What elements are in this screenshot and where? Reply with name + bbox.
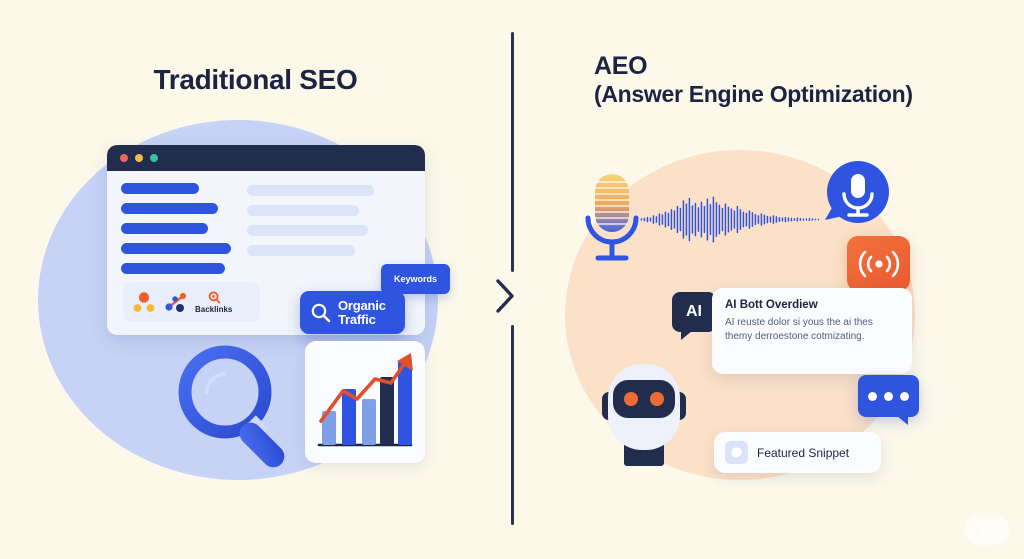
- waveform-bar: [782, 217, 784, 221]
- search-icon: [309, 301, 333, 325]
- typing-dot: [868, 392, 877, 401]
- waveform-bar: [680, 208, 682, 232]
- content-bar: [121, 203, 218, 214]
- waveform-bar: [818, 219, 820, 221]
- magnifying-glass-icon: [167, 338, 307, 473]
- waveform-bar: [650, 217, 652, 221]
- waveform-bar: [770, 216, 772, 222]
- waveform-bar: [767, 216, 769, 223]
- window-maximize-dot[interactable]: [150, 154, 158, 162]
- retro-microphone-icon: [578, 166, 646, 266]
- waveform-bar: [779, 217, 781, 222]
- backlinks-card: Backlinks: [123, 282, 260, 322]
- infographic-canvas: Traditional SEO AEO (Answer Engine Optim…: [0, 0, 1024, 559]
- waveform-bar: [785, 217, 787, 223]
- waveform-bar: [665, 211, 667, 227]
- bar-chart: [305, 341, 425, 463]
- chart-bar: [362, 399, 376, 445]
- content-column-primary: [121, 183, 231, 274]
- waveform-bar: [659, 213, 661, 225]
- right-panel-subtitle: (Answer Engine Optimization): [594, 81, 1014, 108]
- chart-bar: [398, 361, 412, 445]
- molecule-icon: [131, 289, 157, 315]
- waveform-bar: [662, 214, 664, 225]
- content-bar: [121, 243, 231, 254]
- waveform-bar: [731, 208, 733, 230]
- content-column-secondary: [247, 183, 382, 274]
- backlinks-label: Backlinks: [195, 305, 232, 314]
- typing-dot: [884, 392, 893, 401]
- placeholder-bar: [247, 185, 374, 196]
- waveform-bar: [728, 206, 730, 232]
- waveform-bar: [722, 208, 724, 232]
- waveform-bar: [758, 215, 760, 224]
- keywords-tag[interactable]: Keywords: [381, 264, 450, 294]
- ai-overview-card: AI Bott Overdiew AI reuste dolor si yous…: [712, 288, 912, 374]
- waveform-bar: [719, 205, 721, 235]
- waveform-bar: [755, 214, 757, 225]
- waveform-bar: [653, 215, 655, 224]
- waveform-bar: [701, 202, 703, 238]
- window-close-dot[interactable]: [120, 154, 128, 162]
- waveform-bar: [806, 218, 808, 220]
- featured-snippet-card[interactable]: Featured Snippet: [714, 432, 881, 473]
- browser-content: [107, 171, 425, 274]
- waveform-bar: [812, 218, 814, 220]
- snippet-blob-glyph: [730, 446, 743, 459]
- broadcast-signal-icon: [856, 247, 902, 281]
- placeholder-bar: [247, 245, 355, 256]
- waveform-bar: [698, 207, 700, 232]
- waveform-bar: [647, 217, 649, 223]
- waveform-bar: [641, 218, 643, 220]
- typing-dot: [900, 392, 909, 401]
- featured-snippet-label: Featured Snippet: [757, 446, 849, 460]
- waveform-bar: [776, 216, 778, 223]
- waveform-bar: [791, 218, 793, 222]
- waveform-bar: [752, 212, 754, 227]
- link-search-icon: [207, 291, 221, 304]
- waveform-bar: [797, 217, 799, 221]
- waveform-bar: [713, 197, 715, 243]
- waveform-bar: [725, 203, 727, 235]
- ai-overview-heading: AI Bott Overdiew: [725, 299, 899, 311]
- waveform-bar: [800, 218, 802, 221]
- window-minimize-dot[interactable]: [135, 154, 143, 162]
- placeholder-bar: [247, 205, 359, 216]
- waveform-bar: [668, 213, 670, 227]
- right-panel-title: AEO (Answer Engine Optimization): [594, 52, 1014, 108]
- waveform-bar: [740, 209, 742, 230]
- waveform-bar: [803, 218, 805, 220]
- waveform-bar: [689, 198, 691, 241]
- typing-dots-bubble[interactable]: [858, 375, 919, 417]
- waveform-bar: [764, 215, 766, 225]
- waveform-bar: [809, 218, 811, 221]
- chevron-right-icon: [494, 276, 516, 316]
- waveform-bar: [794, 218, 796, 221]
- placeholder-bar: [247, 225, 368, 236]
- waveform-bar: [707, 198, 709, 240]
- waveform-bar: [743, 211, 745, 227]
- browser-title-bar: [107, 145, 425, 171]
- right-panel-title-main: AEO: [594, 52, 647, 80]
- waveform-bar: [761, 213, 763, 225]
- waveform-bar: [677, 206, 679, 233]
- backlinks-group: Backlinks: [195, 291, 232, 314]
- waveform-bar: [683, 200, 685, 238]
- audio-waveform: [640, 172, 820, 267]
- waveform-bar: [734, 210, 736, 229]
- panel-divider-top: [511, 32, 514, 272]
- waveform-bar: [716, 202, 718, 237]
- seo-growth-chart-card: [305, 341, 425, 463]
- broadcast-tile[interactable]: [847, 236, 910, 291]
- waveform-bar: [710, 204, 712, 235]
- content-bar: [121, 183, 199, 194]
- organic-traffic-line1: Organic: [338, 299, 386, 313]
- organic-traffic-line2: Traffic: [338, 313, 386, 327]
- robot-head-icon: [588, 356, 700, 472]
- waveform-bar: [671, 209, 673, 230]
- waveform-bar: [737, 206, 739, 233]
- waveform-bar: [746, 213, 748, 227]
- microphone-bubble-icon[interactable]: [820, 158, 892, 230]
- waveform-bar: [695, 203, 697, 236]
- waveform-bar: [686, 203, 688, 235]
- waveform-bar: [773, 215, 775, 224]
- ai-overview-body: AI reuste dolor si yous the ai thes them…: [725, 316, 899, 343]
- waveform-bar: [644, 218, 646, 222]
- waveform-bar: [788, 217, 790, 221]
- waveform-bar: [692, 205, 694, 234]
- waveform-bar: [656, 216, 658, 223]
- content-bar: [121, 263, 225, 274]
- organic-traffic-badge[interactable]: Organic Traffic: [300, 291, 405, 334]
- snippet-blob-icon: [725, 441, 748, 464]
- ai-watermark: ai: [964, 515, 1010, 545]
- network-nodes-icon: [163, 289, 189, 315]
- ai-badge: AI: [672, 292, 716, 332]
- waveform-bar: [704, 206, 706, 233]
- panel-divider-bottom: [511, 325, 514, 525]
- waveform-bar: [815, 219, 817, 221]
- chart-bar: [380, 377, 394, 445]
- content-bar: [121, 223, 208, 234]
- organic-traffic-text: Organic Traffic: [338, 299, 386, 326]
- left-panel-title: Traditional SEO: [0, 64, 511, 96]
- waveform-bar: [749, 210, 751, 229]
- waveform-bar: [674, 210, 676, 229]
